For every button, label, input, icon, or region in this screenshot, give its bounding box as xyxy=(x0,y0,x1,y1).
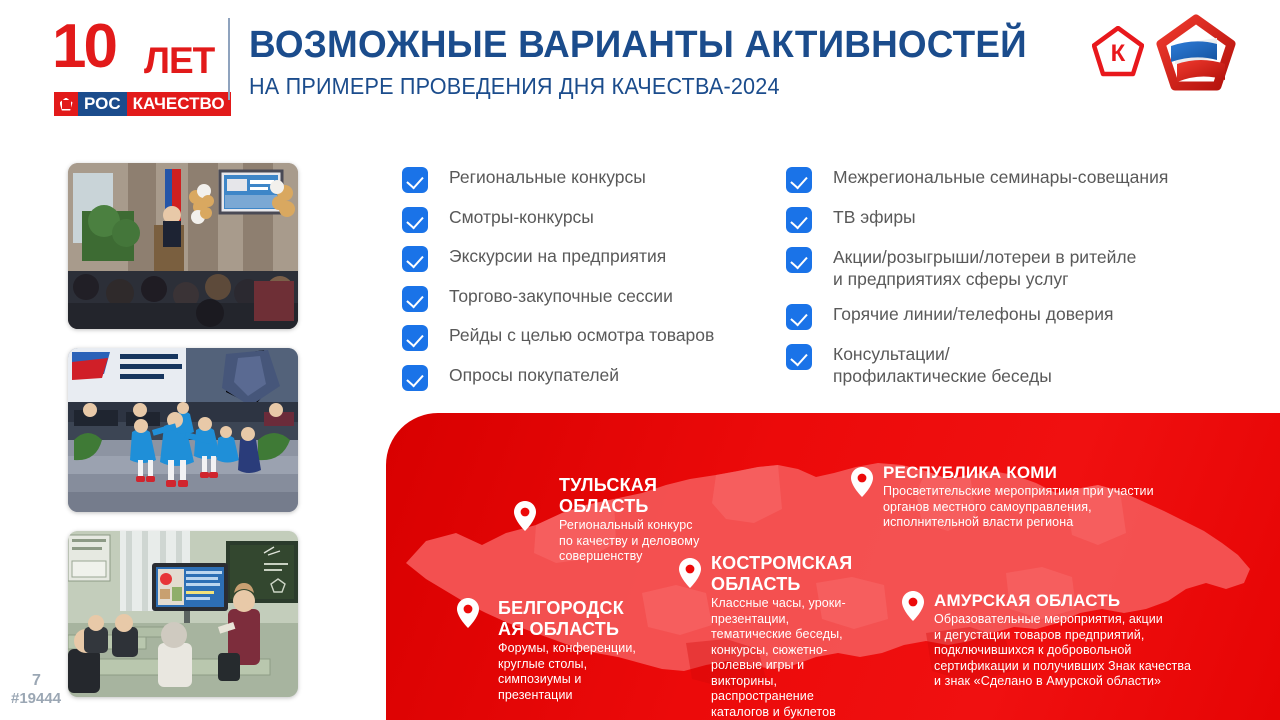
regions-map-panel: ТУЛЬСКАЯ ОБЛАСТЬ Региональный конкурс по… xyxy=(386,413,1280,720)
list-item-label: Опросы покупателей xyxy=(449,364,619,386)
logo-wordmark: РОС КАЧЕСТВО xyxy=(54,92,231,116)
list-item-label: Акции/розыгрыши/лотереи в ритейле и пред… xyxy=(833,246,1136,290)
checkbox-checked-icon[interactable] xyxy=(786,247,812,273)
activity-checklist-left: Региональные конкурсы Смотры-конкурсы Эк… xyxy=(402,166,752,403)
region-description: Классные часы, уроки- презентации, темат… xyxy=(711,596,901,720)
photo-classroom-lesson xyxy=(68,531,298,697)
checkbox-checked-icon[interactable] xyxy=(402,207,428,233)
list-item-label: Рейды с целью осмотра товаров xyxy=(449,324,714,346)
map-pin-icon xyxy=(679,558,701,588)
checkbox-checked-icon[interactable] xyxy=(402,167,428,193)
page-subtitle: НА ПРИМЕРЕ ПРОВЕДЕНИЯ ДНЯ КАЧЕСТВА-2024 xyxy=(249,73,780,100)
region-kostroma: КОСТРОМСКАЯ ОБЛАСТЬ Классные часы, уроки… xyxy=(711,553,901,720)
checkbox-checked-icon[interactable] xyxy=(402,325,428,351)
list-item[interactable]: Смотры-конкурсы xyxy=(402,206,752,233)
slide-root: 10 ЛЕТ РОС КАЧЕСТВО ВОЗМОЖНЫЕ ВАРИАНТЫ А… xyxy=(0,0,1280,720)
russian-flag-pentagon-logo xyxy=(1155,14,1237,96)
logo-years-label: ЛЕТ xyxy=(144,42,214,79)
list-item-label: Консультации/ профилактические беседы xyxy=(833,343,1052,387)
list-item-label: Экскурсии на предприятия xyxy=(449,245,666,267)
checkbox-checked-icon[interactable] xyxy=(402,286,428,312)
checkbox-checked-icon[interactable] xyxy=(402,246,428,272)
list-item-label: Горячие линии/телефоны доверия xyxy=(833,303,1114,325)
list-item[interactable]: Межрегиональные семинары-совещания xyxy=(786,166,1206,193)
page-number: 7 xyxy=(32,672,41,690)
page-title: ВОЗМОЖНЫЕ ВАРИАНТЫ АКТИВНОСТЕЙ xyxy=(249,24,1027,67)
map-pin-icon xyxy=(902,591,924,621)
list-item-label: Региональные конкурсы xyxy=(449,166,646,188)
photo-dance-performance xyxy=(68,348,298,512)
checkbox-checked-icon[interactable] xyxy=(786,167,812,193)
activity-checklist-right: Межрегиональные семинары-совещания ТВ эф… xyxy=(786,166,1206,400)
list-item[interactable]: Горячие линии/телефоны доверия xyxy=(786,303,1206,330)
checkbox-checked-icon[interactable] xyxy=(786,304,812,330)
photo-conference-hall xyxy=(68,163,298,329)
list-item[interactable]: Рейды с целью осмотра товаров xyxy=(402,324,752,351)
slide-header: 10 ЛЕТ РОС КАЧЕСТВО ВОЗМОЖНЫЕ ВАРИАНТЫ А… xyxy=(0,0,1280,118)
list-item[interactable]: ТВ эфиры xyxy=(786,206,1206,233)
map-pin-icon xyxy=(851,467,873,497)
region-name: РЕСПУБЛИКА КОМИ xyxy=(883,463,1183,483)
list-item[interactable]: Экскурсии на предприятия xyxy=(402,245,752,272)
region-tula: ТУЛЬСКАЯ ОБЛАСТЬ Региональный конкурс по… xyxy=(559,475,759,565)
list-item-label: Смотры-конкурсы xyxy=(449,206,594,228)
roskachestvo-anniversary-logo: 10 ЛЕТ РОС КАЧЕСТВО xyxy=(52,16,217,104)
checkbox-checked-icon[interactable] xyxy=(402,365,428,391)
list-item[interactable]: Акции/розыгрыши/лотереи в ритейле и пред… xyxy=(786,246,1206,290)
map-pin-icon xyxy=(514,501,536,531)
znak-kachestva-logo: К xyxy=(1092,26,1144,78)
region-name: АМУРСКАЯ ОБЛАСТЬ xyxy=(934,591,1254,611)
region-belgorod: БЕЛГОРОДСК АЯ ОБЛАСТЬ Форумы, конференци… xyxy=(498,598,658,703)
list-item-label: ТВ эфиры xyxy=(833,206,916,228)
logo-kachestvo-label: КАЧЕСТВО xyxy=(127,92,231,116)
region-description: Просветительские мероприятиия при участи… xyxy=(883,484,1183,531)
slide-id: #19444 xyxy=(11,690,61,707)
region-name: ТУЛЬСКАЯ ОБЛАСТЬ xyxy=(559,475,759,517)
checkbox-checked-icon[interactable] xyxy=(786,207,812,233)
list-item[interactable]: Региональные конкурсы xyxy=(402,166,752,193)
list-item-label: Торгово-закупочные сессии xyxy=(449,285,673,307)
region-name: КОСТРОМСКАЯ ОБЛАСТЬ xyxy=(711,553,901,595)
region-description: Форумы, конференции, круглые столы, симп… xyxy=(498,641,658,703)
list-item-label: Межрегиональные семинары-совещания xyxy=(833,166,1168,188)
region-komi: РЕСПУБЛИКА КОМИ Просветительские меропри… xyxy=(883,463,1183,531)
logo-ros-label: РОС xyxy=(78,92,127,116)
svg-text:К: К xyxy=(1111,40,1126,67)
list-item[interactable]: Торгово-закупочные сессии xyxy=(402,285,752,312)
list-item[interactable]: Опросы покупателей xyxy=(402,364,752,391)
pentagon-icon xyxy=(54,92,78,116)
region-amur: АМУРСКАЯ ОБЛАСТЬ Образовательные меропри… xyxy=(934,591,1254,690)
region-name: БЕЛГОРОДСК АЯ ОБЛАСТЬ xyxy=(498,598,658,640)
header-divider xyxy=(228,18,230,100)
logo-number: 10 xyxy=(52,16,115,78)
map-pin-icon xyxy=(457,598,479,628)
region-description: Образовательные мероприятия, акции и дег… xyxy=(934,612,1254,690)
list-item[interactable]: Консультации/ профилактические беседы xyxy=(786,343,1206,387)
checkbox-checked-icon[interactable] xyxy=(786,344,812,370)
